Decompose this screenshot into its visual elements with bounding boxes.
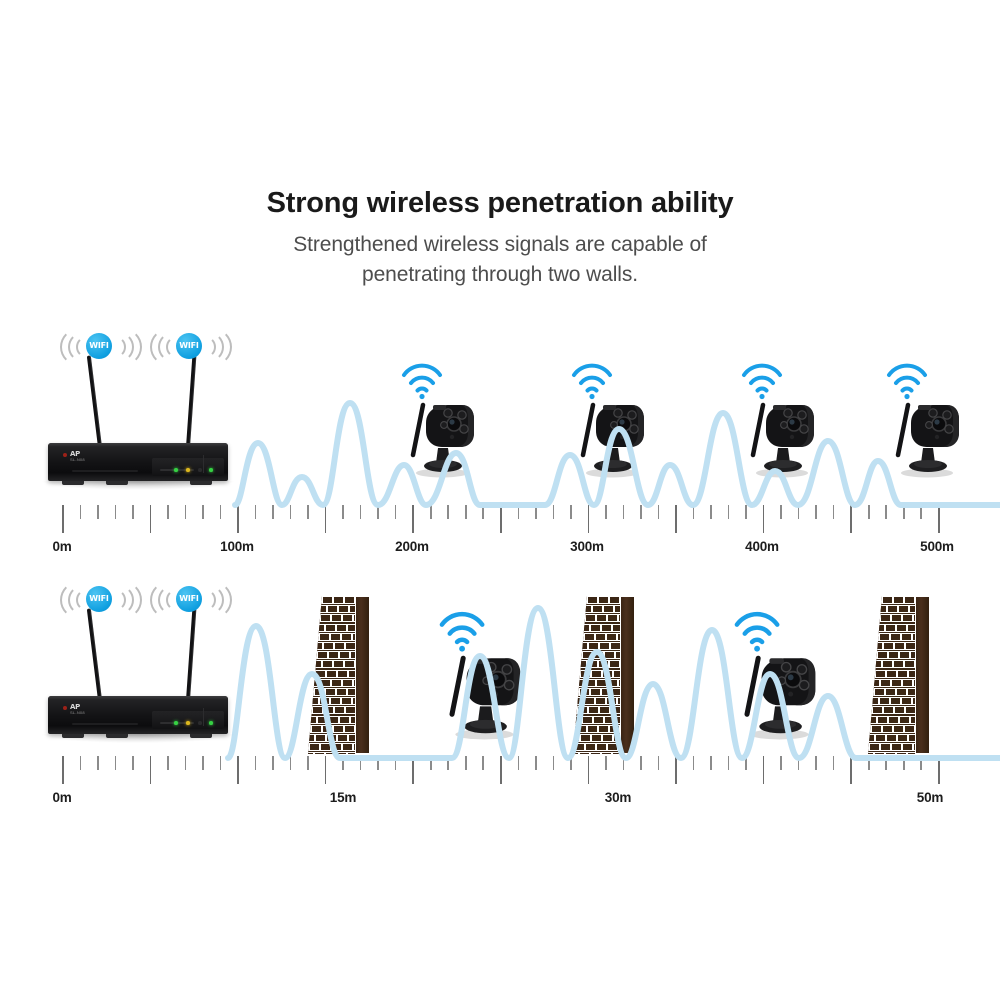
wifi-badge-right-2: WIFI bbox=[154, 586, 224, 616]
ruler-label: 15m bbox=[330, 790, 356, 805]
wifi-badge-label-2: WIFI bbox=[176, 333, 202, 359]
ruler-label: 200m bbox=[395, 539, 429, 554]
subtitle-line-2: penetrating through two walls. bbox=[0, 260, 1000, 290]
scene-open-space: WIFI WIFI AP SL-N08 bbox=[0, 325, 1000, 505]
nvr-foot-mid bbox=[106, 481, 128, 485]
nvr-foot-left bbox=[62, 481, 84, 485]
nvr-foot-left-2 bbox=[62, 734, 84, 738]
wifi-badge-label: WIFI bbox=[86, 333, 112, 359]
ruler-label: 30m bbox=[605, 790, 631, 805]
wifi-badge-label-4: WIFI bbox=[176, 586, 202, 612]
antenna-left-icon bbox=[87, 355, 102, 447]
wifi-badge-label-3: WIFI bbox=[86, 586, 112, 612]
nvr-panel-divider-2 bbox=[203, 708, 204, 726]
infographic-page: Strong wireless penetration ability Stre… bbox=[0, 0, 1000, 1000]
ruler-label: 0m bbox=[52, 539, 71, 554]
nvr-brand-logo: AP SL-N08 bbox=[70, 451, 96, 462]
nvr-led-power-2 bbox=[174, 721, 178, 725]
scene-through-walls: WIFI WIFI AP SL-N08 bbox=[0, 578, 1000, 758]
wifi-badge-left: WIFI bbox=[64, 333, 134, 363]
wifi-badge-left-2: WIFI bbox=[64, 586, 134, 616]
nvr-foot-right-2 bbox=[190, 734, 212, 738]
nvr-led-status-2 bbox=[209, 721, 213, 725]
nvr-led-net bbox=[198, 468, 202, 472]
distance-ruler-walls: 0m15m30m50m bbox=[0, 756, 1000, 814]
nvr-vent-slot bbox=[72, 470, 138, 472]
wifi-badge-right: WIFI bbox=[154, 333, 224, 363]
nvr-recorder-open[interactable]: WIFI WIFI AP SL-N08 bbox=[48, 325, 228, 495]
nvr-led-power bbox=[174, 468, 178, 472]
nvr-vent-slot-2 bbox=[72, 723, 138, 725]
header-block: Strong wireless penetration ability Stre… bbox=[0, 185, 1000, 290]
nvr-led-status bbox=[209, 468, 213, 472]
nvr-foot-mid-2 bbox=[106, 734, 128, 738]
nvr-power-dot-2 bbox=[63, 706, 67, 710]
nvr-foot-right bbox=[190, 481, 212, 485]
nvr-panel-divider bbox=[203, 455, 204, 473]
nvr-led-hdd bbox=[186, 468, 190, 472]
antenna-right-icon bbox=[186, 355, 196, 447]
ruler-label: 500m bbox=[920, 539, 954, 554]
page-title: Strong wireless penetration ability bbox=[0, 185, 1000, 221]
ruler-label: 400m bbox=[745, 539, 779, 554]
antenna-left-icon bbox=[87, 608, 102, 700]
nvr-front-panel bbox=[152, 458, 224, 476]
nvr-front-panel-2 bbox=[152, 711, 224, 729]
nvr-led-hdd-2 bbox=[186, 721, 190, 725]
nvr-power-dot bbox=[63, 453, 67, 457]
nvr-logo-line-2: SL-N08 bbox=[70, 457, 96, 462]
nvr-brand-logo-2: AP SL-N08 bbox=[70, 704, 96, 715]
ruler-label: 50m bbox=[917, 790, 943, 805]
subtitle-line-1: Strengthened wireless signals are capabl… bbox=[0, 230, 1000, 260]
nvr-logo-line-2b: SL-N08 bbox=[70, 710, 96, 715]
distance-ruler-open: 0m100m200m300m400m500m bbox=[0, 505, 1000, 563]
ruler-label: 300m bbox=[570, 539, 604, 554]
ruler-label: 0m bbox=[52, 790, 71, 805]
nvr-recorder-walls[interactable]: WIFI WIFI AP SL-N08 bbox=[48, 578, 228, 748]
ruler-label: 100m bbox=[220, 539, 254, 554]
nvr-led-net-2 bbox=[198, 721, 202, 725]
antenna-right-icon bbox=[186, 608, 196, 700]
